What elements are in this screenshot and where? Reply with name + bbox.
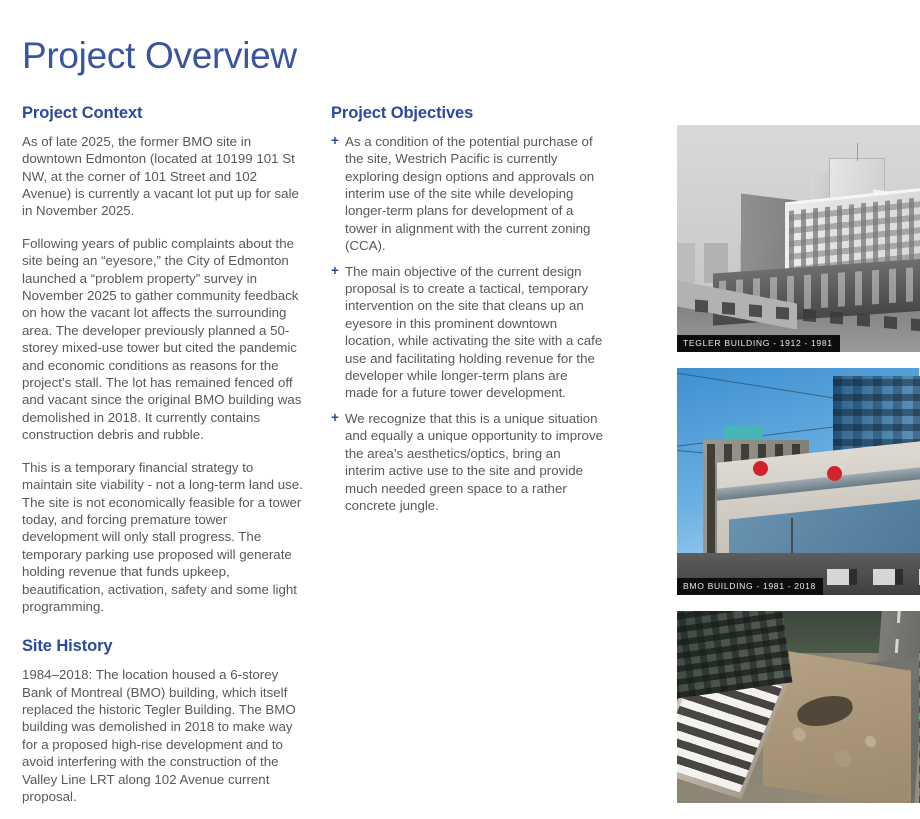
bmo-logo-icon	[753, 461, 768, 476]
site-history-paragraph: 1984–2018: The location housed a 6-store…	[22, 666, 304, 805]
project-context-paragraph: Following years of public complaints abo…	[22, 235, 304, 444]
bmo-building-photo: BMO BUILDING - 1981 - 2018	[677, 368, 920, 595]
tegler-building-photo: TEGLER BUILDING - 1912 - 1981	[677, 125, 920, 352]
list-item: + As a condition of the potential purcha…	[331, 133, 603, 255]
project-context-column: Project Context As of late 2025, the for…	[22, 104, 304, 805]
plus-bullet-icon: +	[331, 132, 339, 149]
rooftop-mast	[857, 143, 858, 161]
project-context-heading: Project Context	[22, 104, 304, 124]
facade-band	[717, 463, 920, 500]
list-item: + The main objective of the current desi…	[331, 263, 603, 402]
bmo-logo-icon	[827, 466, 842, 481]
vacant-lot-aerial-photo	[677, 611, 920, 803]
list-item-label: As a condition of the potential purchase…	[345, 134, 594, 253]
page-title: Project Overview	[22, 33, 297, 79]
photo-caption: BMO BUILDING - 1981 - 2018	[677, 578, 823, 595]
parked-cars	[827, 569, 920, 585]
plus-bullet-icon: +	[331, 262, 339, 279]
site-history-heading: Site History	[22, 637, 304, 657]
project-context-paragraph: As of late 2025, the former BMO site in …	[22, 133, 304, 220]
project-context-paragraph: This is a temporary financial strategy t…	[22, 459, 304, 616]
list-item-label: The main objective of the current design…	[345, 264, 602, 401]
photo-stack: TEGLER BUILDING - 1912 - 1981 BMO BUILDI…	[637, 109, 920, 819]
photo-caption: TEGLER BUILDING - 1912 - 1981	[677, 335, 840, 352]
project-objectives-column: Project Objectives + As a condition of t…	[331, 104, 603, 514]
project-objectives-heading: Project Objectives	[331, 104, 603, 124]
list-item: + We recognize that this is a unique sit…	[331, 410, 603, 514]
plus-bullet-icon: +	[331, 409, 339, 426]
list-item-label: We recognize that this is a unique situa…	[345, 411, 603, 513]
objectives-list: + As a condition of the potential purcha…	[331, 133, 603, 515]
